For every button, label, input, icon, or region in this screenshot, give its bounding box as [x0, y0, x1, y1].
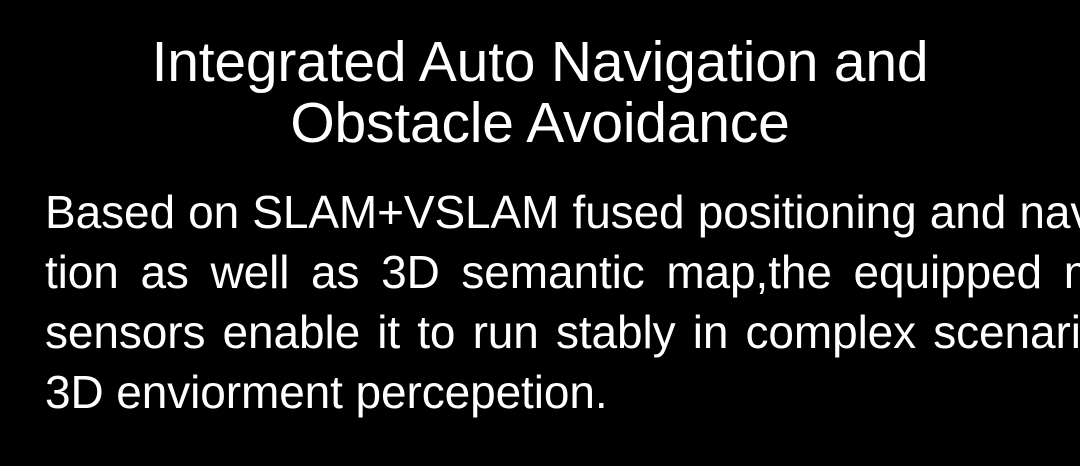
title-line-1: Integrated Auto Navigation and [0, 32, 1080, 93]
body-line-4: 3D enviorment percepetion. [45, 362, 1035, 422]
title-line-2: Obstacle Avoidance [0, 93, 1080, 154]
slide-title: Integrated Auto Navigation and Obstacle … [0, 32, 1080, 154]
slide-body-paragraph: Based on SLAM+VSLAM fused positioning an… [45, 182, 1035, 422]
body-line-3: sensors enable it to run stably in compl… [45, 302, 1035, 362]
body-line-2: tion as well as 3D semantic map,the equi… [45, 242, 1035, 302]
body-line-1: Based on SLAM+VSLAM fused positioning an… [45, 182, 1035, 242]
slide-canvas: Integrated Auto Navigation and Obstacle … [0, 0, 1080, 466]
